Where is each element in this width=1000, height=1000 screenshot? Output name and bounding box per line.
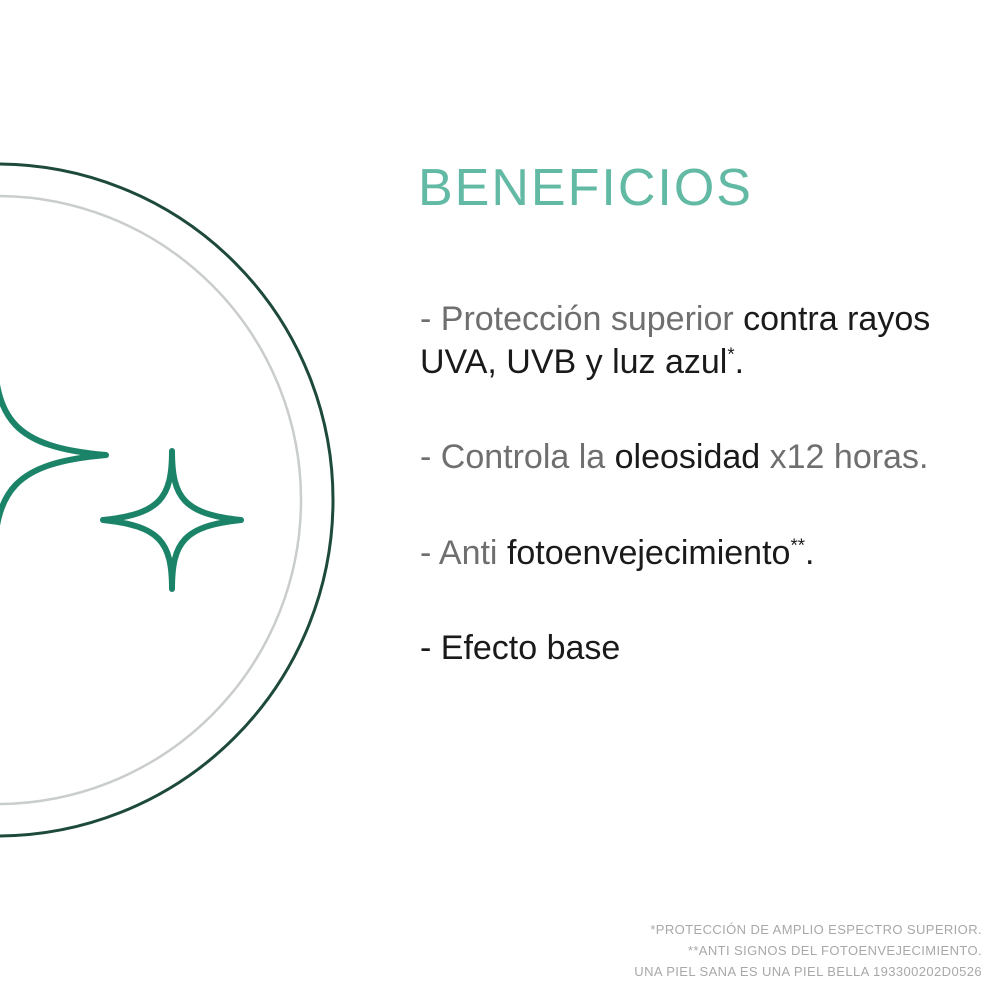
benefits-content-column: BENEFICIOS - Protección superior contra … xyxy=(418,0,978,1000)
benefit-item-efecto-base: - Efecto base xyxy=(420,627,960,670)
benefit-text-run: * xyxy=(727,344,734,365)
benefit-item-fotoenvejecimiento: - Anti fotoenvejecimiento**. xyxy=(420,532,960,575)
benefit-text-run: oleosidad xyxy=(615,438,761,476)
decorative-ring-graphic xyxy=(0,0,400,1000)
footer-line-asterisk-two: **ANTI SIGNOS DEL FOTOENVEJECIMIENTO. xyxy=(634,940,982,961)
benefit-text-run: x12 horas. xyxy=(760,438,928,476)
benefit-text-run: - Efecto base xyxy=(420,629,620,667)
benefit-text-run: - Protección superior xyxy=(420,300,743,338)
benefit-text-run: - Controla la xyxy=(420,438,615,476)
inner-light-gray-circle xyxy=(0,196,301,804)
sparkle-large-icon xyxy=(0,343,106,567)
footer-line-asterisk-one: *PROTECCIÓN DE AMPLIO ESPECTRO SUPERIOR. xyxy=(634,919,982,940)
benefit-text-run: ** xyxy=(790,534,805,555)
benefit-item-proteccion: - Protección superior contra rayos UVA, … xyxy=(420,298,960,384)
benefit-text-run: . xyxy=(805,534,814,572)
outer-dark-green-circle xyxy=(0,164,333,836)
footer-line-tagline-code: UNA PIEL SANA ES UNA PIEL BELLA 19330020… xyxy=(634,961,982,982)
page-title: BENEFICIOS xyxy=(418,162,753,214)
product-benefits-card: BENEFICIOS - Protección superior contra … xyxy=(0,0,1000,1000)
sparkle-small-icon xyxy=(103,451,241,589)
benefit-text-run: - Anti xyxy=(420,534,507,572)
benefit-text-run: fotoenvejecimiento xyxy=(507,534,791,572)
benefit-text-run: . xyxy=(735,343,744,381)
benefit-item-oleosidad: - Controla la oleosidad x12 horas. xyxy=(420,436,960,479)
benefits-list: - Protección superior contra rayos UVA, … xyxy=(420,298,960,670)
footer-legal-notes: *PROTECCIÓN DE AMPLIO ESPECTRO SUPERIOR.… xyxy=(634,919,982,982)
